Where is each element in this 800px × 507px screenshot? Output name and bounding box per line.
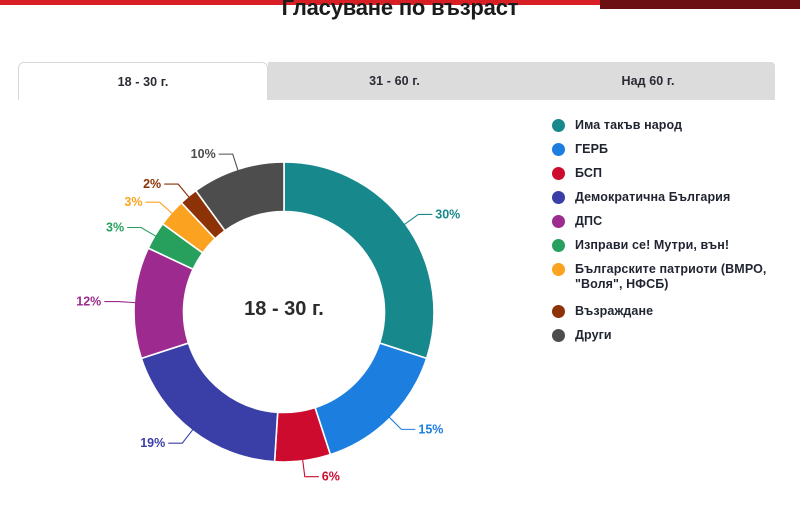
donut-leader-line (104, 302, 137, 303)
legend-item-label: Изправи се! Мутри, вън! (575, 238, 729, 253)
legend-swatch-icon (552, 119, 565, 132)
donut-value-label: 19% (140, 436, 165, 450)
legend-item-bsp[interactable]: БСП (552, 166, 792, 181)
legend-swatch-icon (552, 329, 565, 342)
legend-swatch-icon (552, 167, 565, 180)
tab-31-60[interactable]: 31 - 60 г. (268, 62, 521, 100)
age-group-tab-strip: 18 - 30 г. 31 - 60 г. Над 60 г. (18, 62, 775, 100)
legend-item-balgarskite-patrioti[interactable]: Българските патриоти (ВМРО, "Воля", НФСБ… (552, 262, 792, 292)
donut-value-label: 15% (418, 422, 443, 436)
tab-18-30-label: 18 - 30 г. (118, 75, 169, 89)
legend-item-demokratichna-bulgaria[interactable]: Демократична България (552, 190, 792, 205)
legend-item-label: Други (575, 328, 612, 343)
donut-leader-line (164, 184, 190, 199)
legend-item-gerb[interactable]: ГЕРБ (552, 142, 792, 157)
donut-value-label: 3% (124, 195, 142, 209)
legend-item-drugi[interactable]: Други (552, 328, 792, 343)
donut-leader-line (403, 214, 432, 225)
legend-swatch-icon (552, 215, 565, 228)
legend-item-ima-takav-narod[interactable]: Има такъв народ (552, 118, 792, 133)
legend-item-label: Българските патриоти (ВМРО, "Воля", НФСБ… (575, 262, 767, 292)
donut-value-label: 2% (143, 177, 161, 191)
donut-leader-line (127, 227, 157, 237)
donut-value-label: 30% (435, 207, 460, 221)
donut-slice[interactable] (315, 343, 427, 455)
legend-item-vazrazhdane[interactable]: Възраждане (552, 304, 792, 319)
legend-item-label: Има такъв народ (575, 118, 682, 133)
donut-leader-line (388, 416, 415, 429)
donut-chart-svg: 30%15%6%19%12%3%3%2%10% (0, 100, 540, 507)
chart-legend: Има такъв народ ГЕРБ БСП Демократична Бъ… (552, 118, 792, 352)
donut-value-label: 12% (76, 295, 101, 309)
legend-swatch-icon (552, 305, 565, 318)
legend-swatch-icon (552, 239, 565, 252)
legend-item-label: ГЕРБ (575, 142, 608, 157)
donut-leader-line (145, 202, 173, 215)
donut-value-label: 6% (322, 470, 340, 484)
legend-swatch-icon (552, 263, 565, 276)
tab-31-60-label: 31 - 60 г. (369, 74, 420, 88)
legend-item-label: Демократична България (575, 190, 730, 205)
tab-18-30[interactable]: 18 - 30 г. (18, 62, 268, 100)
tab-over-60[interactable]: Над 60 г. (521, 62, 775, 100)
donut-slice[interactable] (284, 162, 434, 358)
legend-item-dps[interactable]: ДПС (552, 214, 792, 229)
tab-over-60-label: Над 60 г. (621, 74, 674, 88)
donut-leader-line (168, 428, 194, 443)
donut-value-label: 10% (191, 147, 216, 161)
donut-value-label: 3% (106, 220, 124, 234)
donut-chart: 30%15%6%19%12%3%3%2%10% 18 - 30 г. (0, 100, 540, 507)
page-title: Гласуване по възраст (0, 0, 800, 21)
legend-swatch-icon (552, 143, 565, 156)
legend-item-label: Възраждане (575, 304, 653, 319)
legend-swatch-icon (552, 191, 565, 204)
legend-item-label: ДПС (575, 214, 602, 229)
legend-item-izpravi-se-mutri-van[interactable]: Изправи се! Мутри, вън! (552, 238, 792, 253)
legend-item-label: БСП (575, 166, 602, 181)
